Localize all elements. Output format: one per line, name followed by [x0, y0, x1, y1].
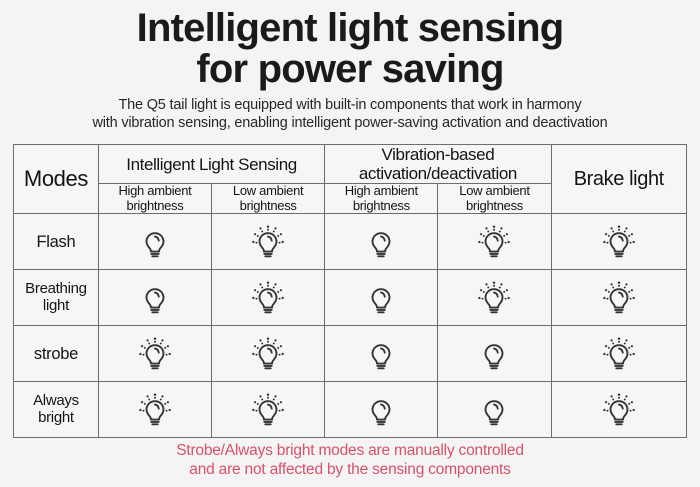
- mode-name-cell: Breathing light: [14, 270, 99, 326]
- status-cell: [551, 214, 686, 270]
- table-header-row-groups: Modes Intelligent Light Sensing Vibratio…: [14, 145, 687, 184]
- table-row: Breathing light: [14, 270, 687, 326]
- mode-name-cell: Always bright: [14, 382, 99, 438]
- mode-name-cell: strobe: [14, 326, 99, 382]
- bulb-on-icon: [251, 335, 285, 373]
- status-cell: [438, 326, 551, 382]
- table-body: FlashBreathing lightstrobeAlways bright: [14, 214, 687, 438]
- subheader-light-low: Low ambient brightness: [212, 184, 325, 214]
- bulb-on-icon: [477, 279, 511, 317]
- status-cell: [212, 326, 325, 382]
- status-cell: [551, 270, 686, 326]
- footnote-line-2: and are not affected by the sensing comp…: [0, 460, 700, 479]
- status-cell: [551, 326, 686, 382]
- bulb-off-icon: [364, 391, 398, 429]
- status-cell: [98, 326, 211, 382]
- header-modes: Modes: [14, 145, 99, 214]
- subheader-vibration-high: High ambient brightness: [325, 184, 438, 214]
- subheader-vibration-low: Low ambient brightness: [438, 184, 551, 214]
- bulb-off-icon: [138, 279, 172, 317]
- page-subtitle-line-1: The Q5 tail light is equipped with built…: [14, 96, 686, 114]
- status-cell: [325, 326, 438, 382]
- status-cell: [325, 270, 438, 326]
- header-group-vibration: Vibration-based activation/deactivation: [325, 145, 551, 184]
- status-cell: [98, 270, 211, 326]
- bulb-on-icon: [602, 391, 636, 429]
- status-cell: [212, 270, 325, 326]
- status-cell: [551, 382, 686, 438]
- status-cell: [438, 382, 551, 438]
- page-subtitle: The Q5 tail light is equipped with built…: [0, 96, 700, 132]
- bulb-off-icon: [364, 279, 398, 317]
- bulb-on-icon: [138, 391, 172, 429]
- status-cell: [98, 214, 211, 270]
- bulb-off-icon: [138, 223, 172, 261]
- page-title: Intelligent light sensing for power savi…: [0, 8, 700, 90]
- table-row: strobe: [14, 326, 687, 382]
- page-subtitle-line-2: with vibration sensing, enabling intelli…: [14, 114, 686, 132]
- status-cell: [98, 382, 211, 438]
- bulb-on-icon: [602, 279, 636, 317]
- bulb-off-icon: [364, 223, 398, 261]
- page-header: Intelligent light sensing for power savi…: [0, 0, 700, 132]
- status-cell: [438, 214, 551, 270]
- bulb-on-icon: [251, 223, 285, 261]
- table-row: Always bright: [14, 382, 687, 438]
- table-row: Flash: [14, 214, 687, 270]
- bulb-on-icon: [251, 391, 285, 429]
- bulb-on-icon: [602, 223, 636, 261]
- status-cell: [212, 382, 325, 438]
- modes-matrix-table: Modes Intelligent Light Sensing Vibratio…: [13, 144, 687, 438]
- mode-name-cell: Flash: [14, 214, 99, 270]
- status-cell: [438, 270, 551, 326]
- footnote: Strobe/Always bright modes are manually …: [0, 441, 700, 480]
- footnote-line-1: Strobe/Always bright modes are manually …: [0, 441, 700, 460]
- header-group-light-sensing: Intelligent Light Sensing: [98, 145, 324, 184]
- bulb-off-icon: [364, 335, 398, 373]
- bulb-on-icon: [138, 335, 172, 373]
- bulb-off-icon: [477, 391, 511, 429]
- status-cell: [212, 214, 325, 270]
- page-title-line-1: Intelligent light sensing: [10, 8, 690, 49]
- bulb-on-icon: [477, 223, 511, 261]
- table-header: Modes Intelligent Light Sensing Vibratio…: [14, 145, 687, 214]
- status-cell: [325, 214, 438, 270]
- bulb-on-icon: [602, 335, 636, 373]
- bulb-off-icon: [477, 335, 511, 373]
- modes-table-container: Modes Intelligent Light Sensing Vibratio…: [13, 144, 687, 438]
- page-title-line-2: for power saving: [10, 49, 690, 90]
- subheader-light-high: High ambient brightness: [98, 184, 211, 214]
- header-group-brake-light: Brake light: [551, 145, 686, 214]
- status-cell: [325, 382, 438, 438]
- bulb-on-icon: [251, 279, 285, 317]
